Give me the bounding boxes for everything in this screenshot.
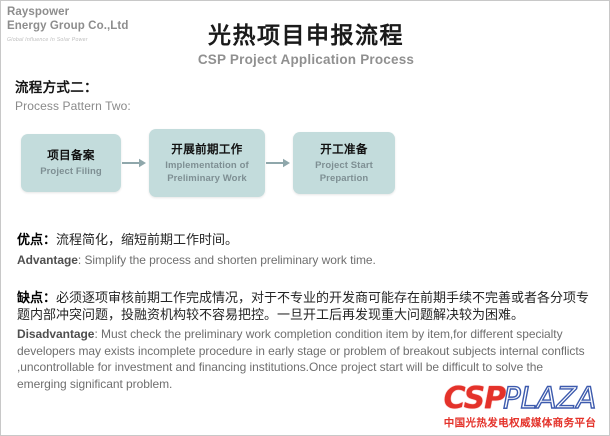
- section-heading: 流程方式二： Process Pattern Two:: [15, 80, 131, 114]
- advantage-chinese-line: 优点：流程简化，缩短前期工作时间。: [17, 232, 595, 250]
- page-title: 光热项目申报流程 CSP Project Application Process: [1, 23, 610, 68]
- flow-step-label-chinese: 开工准备: [320, 142, 368, 157]
- disadvantage-text-chinese: 必须逐项审核前期工作完成情况，对于不专业的开发商可能存在前期手续不完善或者各分项…: [17, 291, 589, 323]
- disadvantage-english-line: Disadvantage: Must check the preliminary…: [17, 326, 595, 392]
- process-flow-diagram: 项目备案 Project Filing 开展前期工作 Implementatio…: [21, 129, 395, 197]
- arrow-right-icon: [265, 152, 293, 174]
- disadvantage-chinese-line: 缺点：必须逐项审核前期工作完成情况，对于不专业的开发商可能存在前期手续不完善或者…: [17, 290, 595, 324]
- flow-step-label-chinese: 项目备案: [47, 148, 95, 163]
- flow-step-label-english: Project Filing: [40, 165, 102, 178]
- advantage-text-chinese: 流程简化，缩短前期工作时间。: [56, 233, 238, 248]
- advantage-english-line: Advantage: Simplify the process and shor…: [17, 252, 595, 269]
- slide-canvas: Rayspower Energy Group Co.,Ltd Global In…: [0, 0, 610, 436]
- flow-step-project-filing[interactable]: 项目备案 Project Filing: [21, 134, 121, 192]
- disadvantage-label-english: Disadvantage: [17, 327, 94, 341]
- title-english: CSP Project Application Process: [1, 51, 610, 68]
- flow-step-label-chinese: 开展前期工作: [171, 142, 242, 157]
- flow-step-label-english-2: Preliminary Work: [167, 172, 247, 185]
- flow-step-project-start-preparation[interactable]: 开工准备 Project Start Prepartion: [293, 132, 395, 194]
- logo-line-1: Rayspower: [7, 6, 187, 20]
- arrow-right-icon: [121, 152, 149, 174]
- flow-step-label-english: Implementation of: [165, 159, 249, 172]
- section-heading-english: Process Pattern Two:: [15, 98, 131, 114]
- watermark-subtitle: 中国光热发电权威媒体商务平台: [439, 415, 601, 430]
- disadvantage-label-chinese: 缺点: [17, 291, 43, 306]
- disadvantage-text-english: : Must check the preliminary work comple…: [17, 327, 585, 391]
- disadvantage-block: 缺点：必须逐项审核前期工作完成情况，对于不专业的开发商可能存在前期手续不完善或者…: [17, 290, 595, 392]
- section-heading-chinese: 流程方式二：: [15, 80, 131, 97]
- flow-step-label-english: Project Start: [315, 159, 373, 172]
- advantage-label-english: Advantage: [17, 253, 78, 267]
- advantage-text-english: : Simplify the process and shorten preli…: [78, 253, 376, 267]
- flow-step-label-english-2: Prepartion: [320, 172, 369, 185]
- disadvantage-colon: ：: [43, 291, 56, 306]
- flow-step-preliminary-work[interactable]: 开展前期工作 Implementation of Preliminary Wor…: [149, 129, 265, 197]
- advantage-label-chinese: 优点: [17, 233, 43, 248]
- title-chinese: 光热项目申报流程: [1, 23, 610, 50]
- advantage-colon: ：: [43, 233, 56, 248]
- advantage-block: 优点：流程简化，缩短前期工作时间。 Advantage: Simplify th…: [17, 232, 595, 269]
